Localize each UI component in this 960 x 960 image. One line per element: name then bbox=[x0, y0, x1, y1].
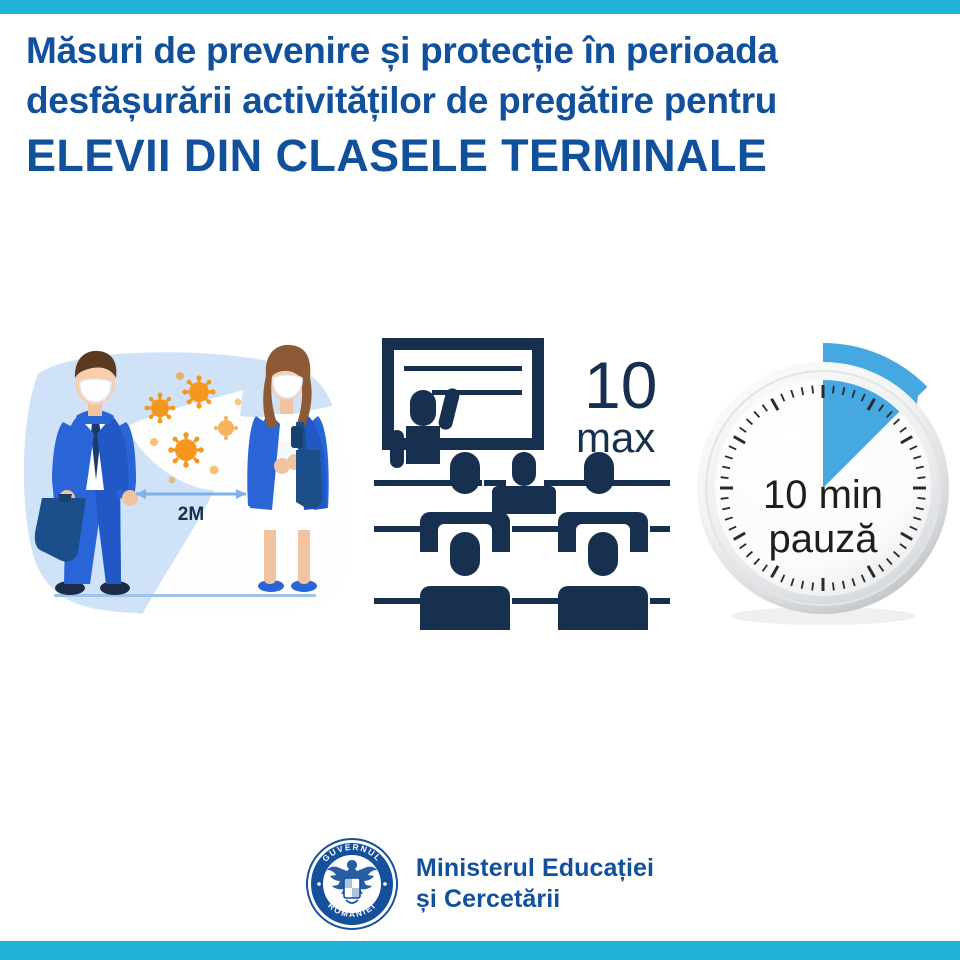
bottom-accent-bar bbox=[0, 941, 960, 960]
social-distancing-illustration: 2M bbox=[8, 330, 356, 630]
government-seal-logo: GUVERNUL ROMÂNIEI bbox=[306, 838, 398, 930]
top-accent-bar bbox=[0, 0, 960, 14]
whiteboard-with-teacher bbox=[382, 338, 544, 468]
classroom-capacity-illustration: 10 max bbox=[372, 330, 672, 630]
title-line-2: desfășurării activităților de pregătire … bbox=[26, 76, 936, 126]
floor-line bbox=[54, 594, 316, 597]
poster-canvas: Măsuri de prevenire și protecție în peri… bbox=[0, 0, 960, 960]
title-line-1: Măsuri de prevenire și protecție în peri… bbox=[26, 26, 936, 76]
ministry-name: Ministerul Educației și Cercetării bbox=[416, 853, 654, 915]
classroom-qualifier: max bbox=[576, 414, 655, 461]
break-timer-illustration: 10 min pauză bbox=[692, 330, 954, 630]
classroom-count: 10 bbox=[584, 348, 657, 422]
distance-label: 2M bbox=[178, 504, 204, 525]
break-word: pauză bbox=[769, 517, 879, 561]
ministry-branding: GUVERNUL ROMÂNIEI Ministerul Educației ș… bbox=[0, 836, 960, 932]
page-title: Măsuri de prevenire și protecție în peri… bbox=[26, 26, 936, 186]
illustration-row: 2M bbox=[0, 330, 960, 630]
title-line-3: ELEVII DIN CLASELE TERMINALE bbox=[26, 126, 936, 186]
students-at-desks bbox=[374, 452, 670, 630]
break-duration: 10 min bbox=[763, 473, 883, 517]
